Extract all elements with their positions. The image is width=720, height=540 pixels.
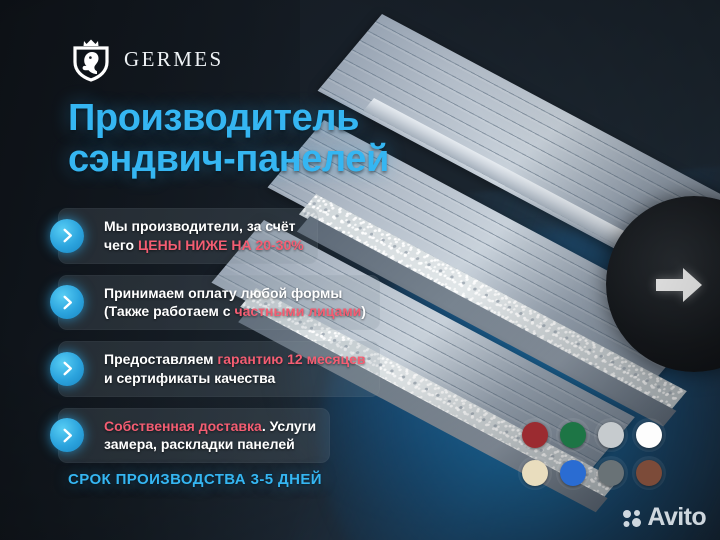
chevron-right-icon bbox=[50, 285, 84, 319]
swatch-cell-red[interactable] bbox=[518, 418, 552, 452]
headline-line-2: сэндвич-панелей bbox=[68, 139, 488, 180]
list-item: Собственная доставка. Услуги замера, рас… bbox=[58, 408, 330, 464]
swatch-cell-white[interactable] bbox=[632, 418, 666, 452]
swatch-cell-cream[interactable] bbox=[518, 456, 552, 490]
advertisement-banner: GERMES Производитель сэндвич-панелей Мы … bbox=[0, 0, 720, 540]
page-title: Производитель сэндвич-панелей bbox=[68, 98, 488, 180]
swatch-cream bbox=[522, 460, 548, 486]
bullet-4-accent: Собственная доставка bbox=[104, 418, 262, 434]
bullet-2-accent: частными лицами bbox=[234, 303, 361, 319]
headline-line-1: Производитель bbox=[68, 98, 488, 139]
avito-watermark: Avito bbox=[622, 503, 706, 532]
swatch-white bbox=[636, 422, 662, 448]
benefits-list: Мы производители, за счёт чего ЦЕНЫ НИЖЕ… bbox=[58, 208, 438, 474]
swatch-brown bbox=[636, 460, 662, 486]
avito-wordmark: Avito bbox=[647, 503, 706, 532]
swatch-light-gray bbox=[598, 422, 624, 448]
swatch-gray bbox=[598, 460, 624, 486]
bullet-1-line-2: чего bbox=[104, 237, 138, 253]
production-time-note: СРОК ПРОИЗВОДСТВА 3-5 ДНЕЙ bbox=[68, 471, 322, 488]
avito-dots-icon bbox=[622, 508, 642, 528]
list-item-text: Предоставляем гарантию 12 месяцев и серт… bbox=[104, 350, 366, 388]
bullet-1-accent: ЦЕНЫ НИЖЕ НА 20-30% bbox=[138, 237, 304, 253]
swatch-cell-brown[interactable] bbox=[632, 456, 666, 490]
swatch-blue bbox=[560, 460, 586, 486]
chevron-right-icon bbox=[50, 352, 84, 386]
chevron-right-icon bbox=[50, 219, 84, 253]
bullet-3-accent: гарантию 12 месяцев bbox=[217, 351, 365, 367]
swatch-cell-blue[interactable] bbox=[556, 456, 590, 490]
color-swatch-grid bbox=[518, 418, 666, 490]
bullet-4-line-2: замера, раскладки панелей bbox=[104, 436, 295, 452]
list-item-text: Мы производители, за счёт чего ЦЕНЫ НИЖЕ… bbox=[104, 217, 304, 255]
bullet-3-line-1: Предоставляем bbox=[104, 351, 217, 367]
bullet-3-line-2: и сертификаты качества bbox=[104, 370, 275, 386]
list-item-text: Собственная доставка. Услуги замера, рас… bbox=[104, 417, 316, 455]
chevron-right-icon bbox=[50, 418, 84, 452]
list-item: Принимаем оплату любой формы (Также рабо… bbox=[58, 275, 380, 331]
list-item: Мы производители, за счёт чего ЦЕНЫ НИЖЕ… bbox=[58, 208, 318, 264]
bullet-4-line-1: . Услуги bbox=[262, 418, 316, 434]
bullet-2-tail: ) bbox=[361, 303, 366, 319]
bullet-1-line-1: Мы производители, за счёт bbox=[104, 218, 295, 234]
bullet-2-line-2: (Также работаем с bbox=[104, 303, 234, 319]
brand-name: GERMES bbox=[124, 47, 224, 72]
swatch-cell-green[interactable] bbox=[556, 418, 590, 452]
swatch-green bbox=[560, 422, 586, 448]
swatch-cell-light-gray[interactable] bbox=[594, 418, 628, 452]
shield-crown-lion-icon bbox=[70, 36, 112, 82]
brand-logo: GERMES bbox=[70, 36, 224, 82]
swatch-cell-gray[interactable] bbox=[594, 456, 628, 490]
list-item: Предоставляем гарантию 12 месяцев и серт… bbox=[58, 341, 380, 397]
bullet-2-line-1: Принимаем оплату любой формы bbox=[104, 285, 342, 301]
arrow-right-icon bbox=[656, 268, 702, 302]
swatch-red bbox=[522, 422, 548, 448]
list-item-text: Принимаем оплату любой формы (Также рабо… bbox=[104, 284, 366, 322]
